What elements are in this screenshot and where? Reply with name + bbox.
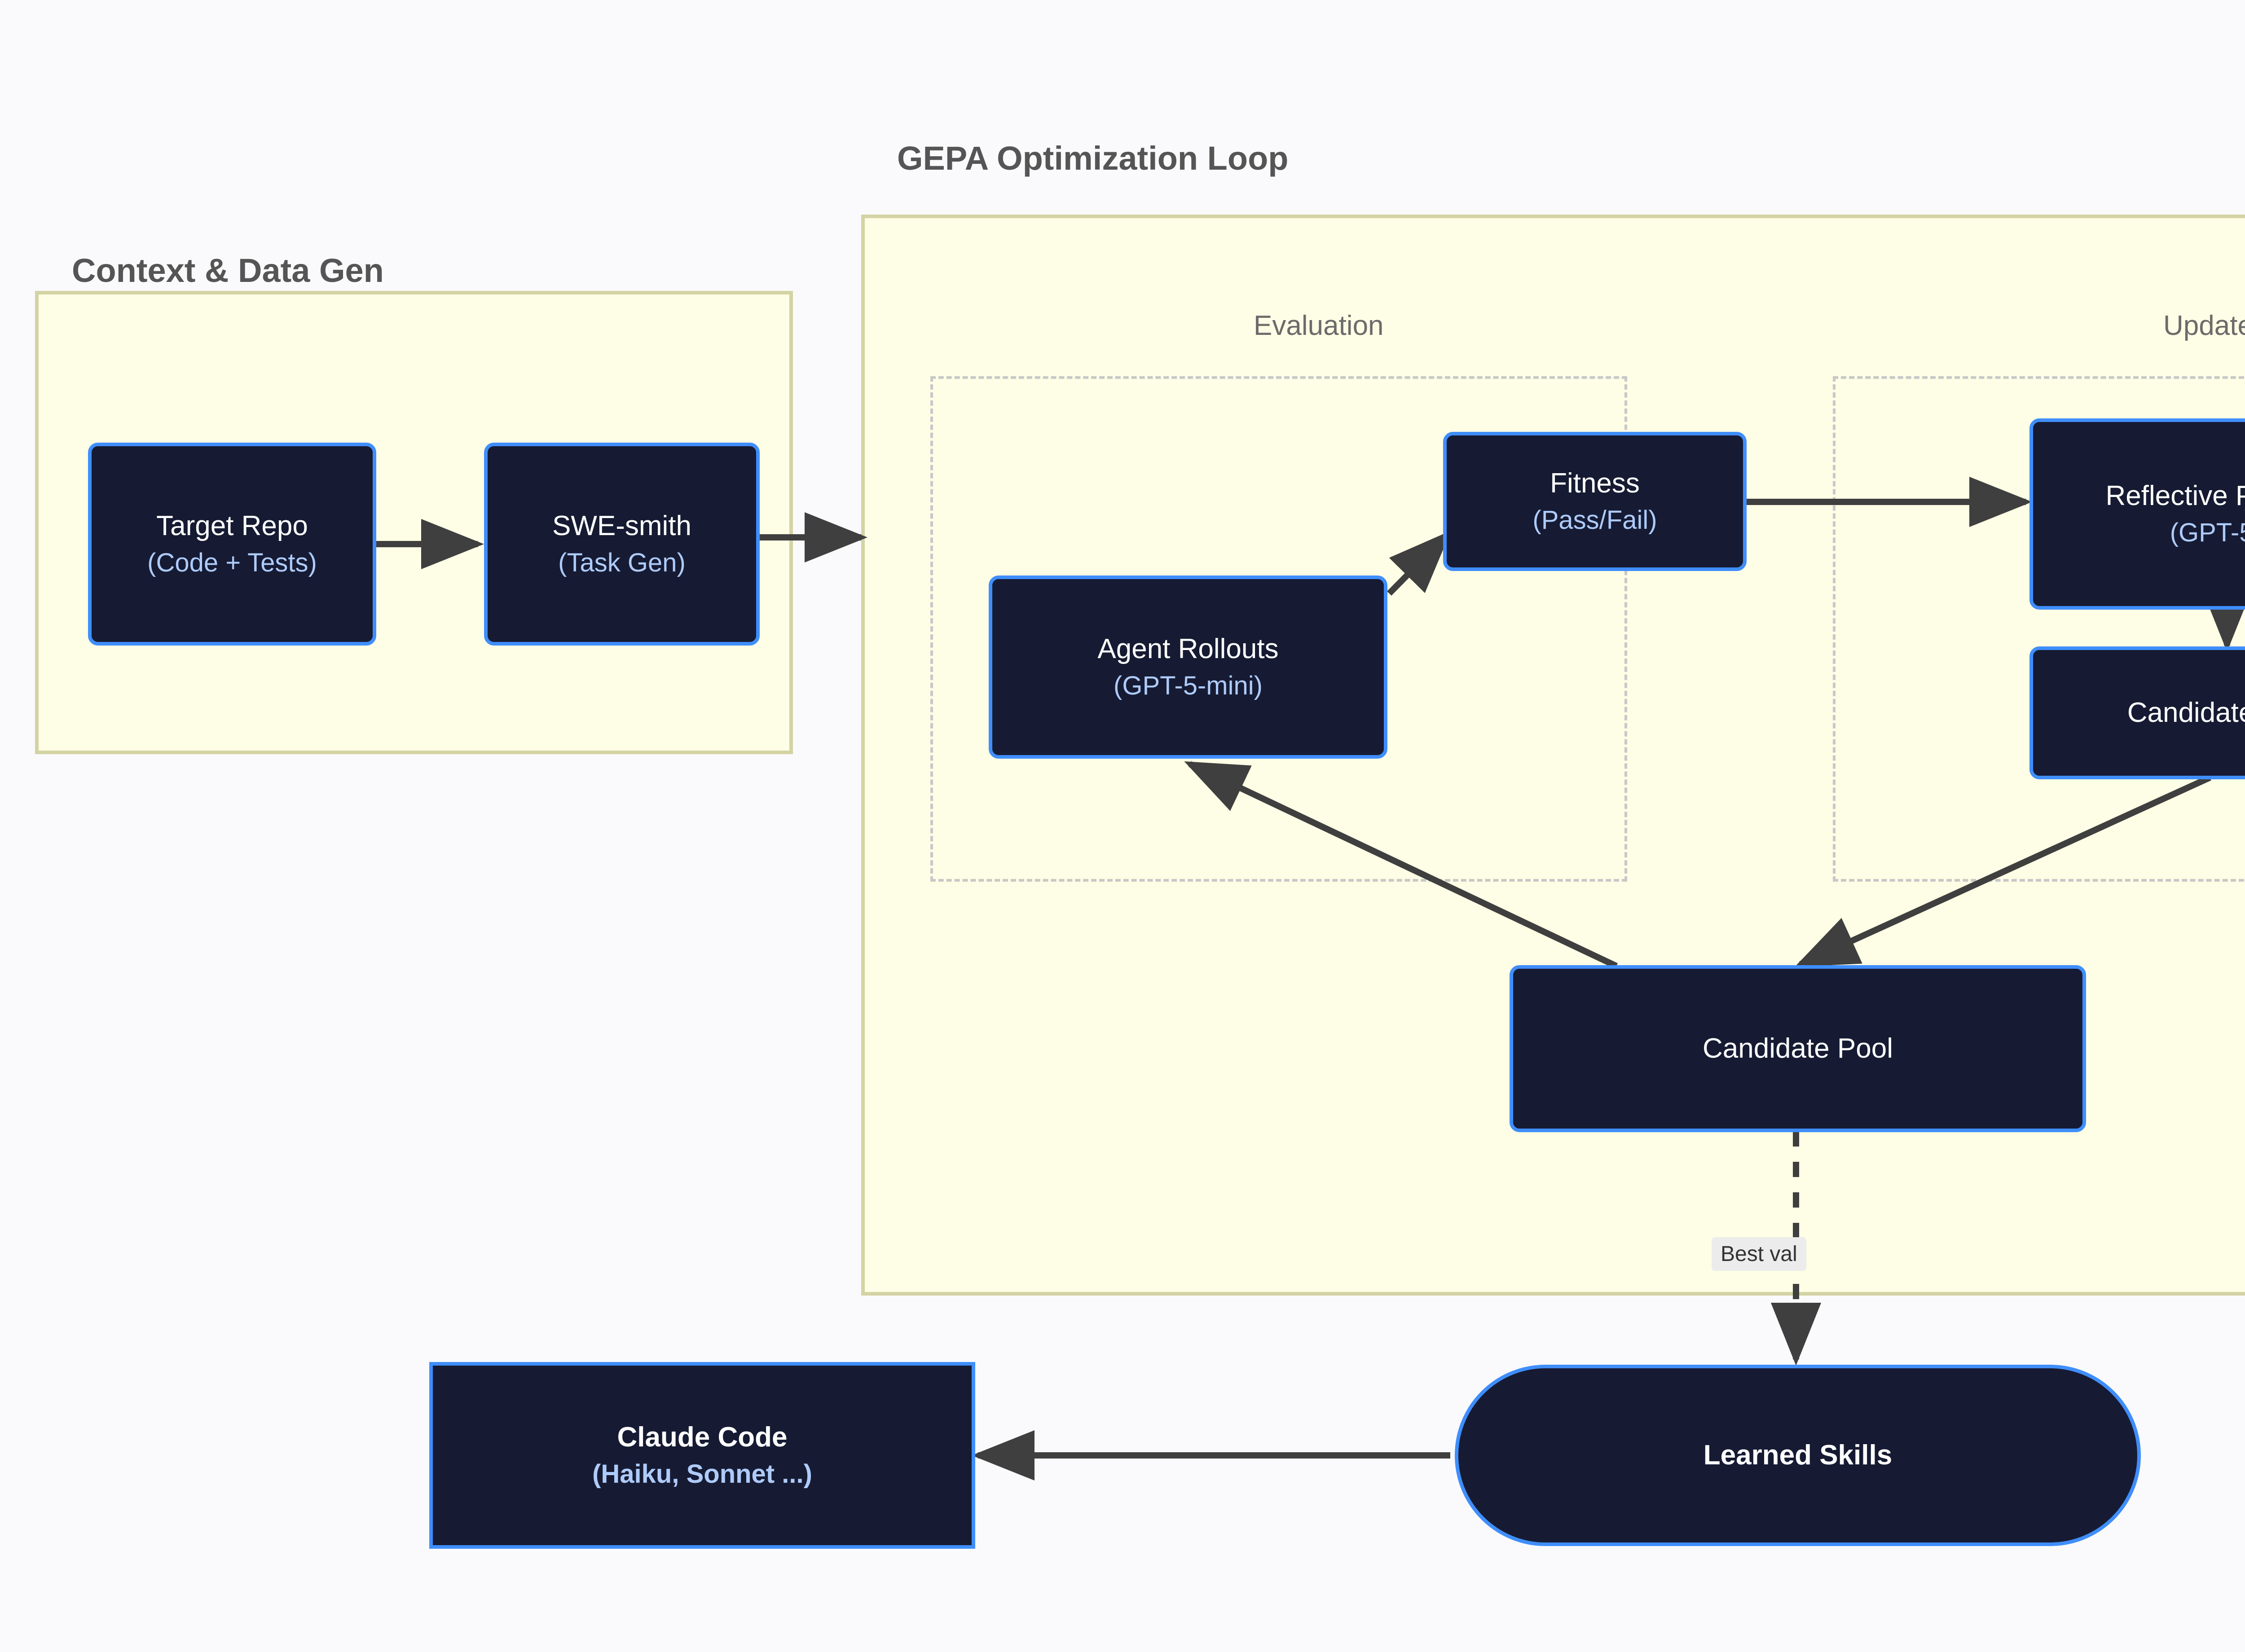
node-swe-smith-subtitle: (Task Gen) <box>558 549 686 578</box>
node-candidate-skills[interactable]: Candidate Skills <box>2029 646 2245 779</box>
diagram-canvas: Context & Data Gen GEPA Optimization Loo… <box>0 0 2245 1652</box>
node-learned-skills[interactable]: Learned Skills <box>1455 1365 2141 1546</box>
node-fitness-title: Fitness <box>1550 468 1640 499</box>
node-claude-code-subtitle: (Haiku, Sonnet ...) <box>592 1460 812 1489</box>
node-reflective-proposer[interactable]: Reflective Proposer (GPT-5.2) <box>2029 418 2245 610</box>
node-fitness-subtitle: (Pass/Fail) <box>1532 506 1657 535</box>
subcluster-title-update: Update <box>2163 310 2245 342</box>
node-candidate-pool[interactable]: Candidate Pool <box>1510 965 2086 1132</box>
cluster-title-context: Context & Data Gen <box>72 251 384 290</box>
node-swe-smith[interactable]: SWE-smith (Task Gen) <box>484 443 760 646</box>
node-agent-rollouts-title: Agent Rollouts <box>1097 633 1278 664</box>
node-candidate-skills-title: Candidate Skills <box>2127 697 2245 728</box>
node-reflective-proposer-title: Reflective Proposer <box>2105 480 2245 511</box>
subcluster-title-evaluation: Evaluation <box>1254 310 1384 342</box>
cluster-title-gepa: GEPA Optimization Loop <box>897 139 1289 177</box>
node-swe-smith-title: SWE-smith <box>552 510 691 541</box>
node-claude-code[interactable]: Claude Code (Haiku, Sonnet ...) <box>429 1362 975 1549</box>
node-agent-rollouts-subtitle: (GPT-5-mini) <box>1114 672 1263 701</box>
node-reflective-proposer-subtitle: (GPT-5.2) <box>2170 518 2245 548</box>
node-target-repo-title: Target Repo <box>156 510 308 541</box>
node-target-repo[interactable]: Target Repo (Code + Tests) <box>88 443 376 646</box>
node-fitness[interactable]: Fitness (Pass/Fail) <box>1443 432 1747 571</box>
node-learned-skills-title: Learned Skills <box>1704 1440 1892 1471</box>
node-target-repo-subtitle: (Code + Tests) <box>147 549 317 578</box>
node-candidate-pool-title: Candidate Pool <box>1703 1033 1893 1064</box>
edge-label-best-val: Best val <box>1712 1237 1806 1271</box>
node-claude-code-title: Claude Code <box>617 1422 788 1453</box>
node-agent-rollouts[interactable]: Agent Rollouts (GPT-5-mini) <box>989 576 1387 759</box>
